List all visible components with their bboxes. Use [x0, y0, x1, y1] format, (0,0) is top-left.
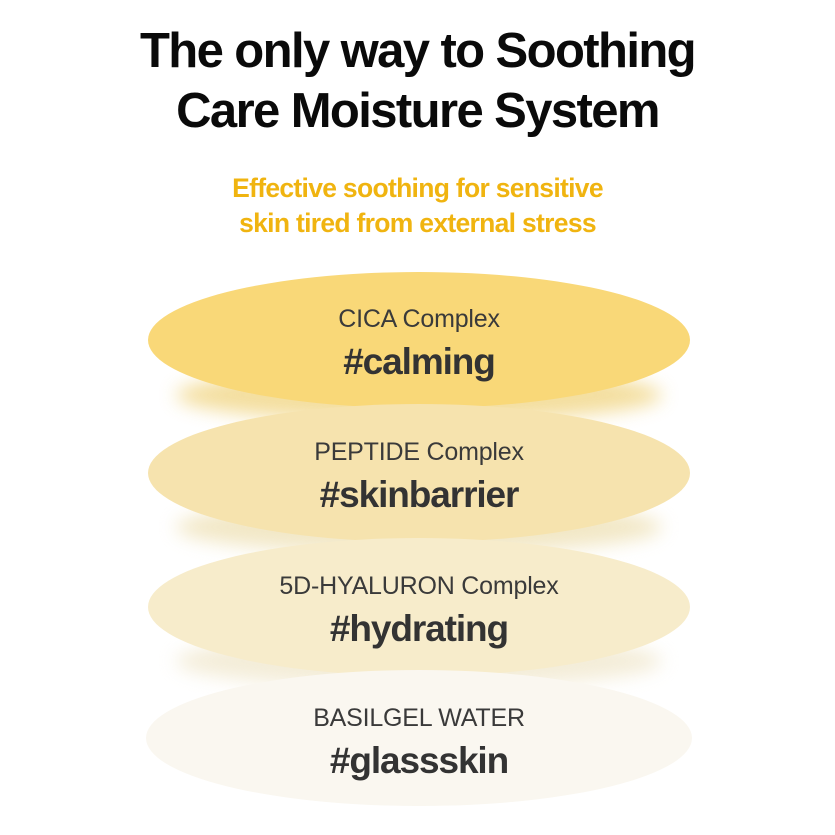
layer-label-group: PEPTIDE Complex #skinbarrier	[148, 440, 690, 513]
layer-name: PEPTIDE Complex	[148, 440, 690, 465]
layer-name: BASILGEL WATER	[146, 706, 692, 731]
layer-tag: #skinbarrier	[148, 465, 690, 513]
layer-tag: #calming	[148, 332, 690, 380]
layer-name: 5D-HYALURON Complex	[148, 574, 690, 599]
layer-name: CICA Complex	[148, 307, 690, 332]
infographic-page: The only way to Soothing Care Moisture S…	[0, 0, 835, 835]
layer-basilgel-water[interactable]: BASILGEL WATER #glassskin	[146, 670, 692, 806]
layer-5d-hyaluron-complex[interactable]: 5D-HYALURON Complex #hydrating	[148, 538, 690, 676]
layer-label-group: BASILGEL WATER #glassskin	[146, 706, 692, 779]
layer-label-group: CICA Complex #calming	[148, 307, 690, 380]
layer-peptide-complex[interactable]: PEPTIDE Complex #skinbarrier	[148, 404, 690, 542]
layer-label-group: 5D-HYALURON Complex #hydrating	[148, 574, 690, 647]
layer-tag: #hydrating	[148, 599, 690, 647]
layer-cica-complex[interactable]: CICA Complex #calming	[148, 272, 690, 408]
layer-tag: #glassskin	[146, 731, 692, 779]
moisture-system-layer-stack: CICA Complex #calming PEPTIDE Complex #s…	[0, 0, 835, 835]
